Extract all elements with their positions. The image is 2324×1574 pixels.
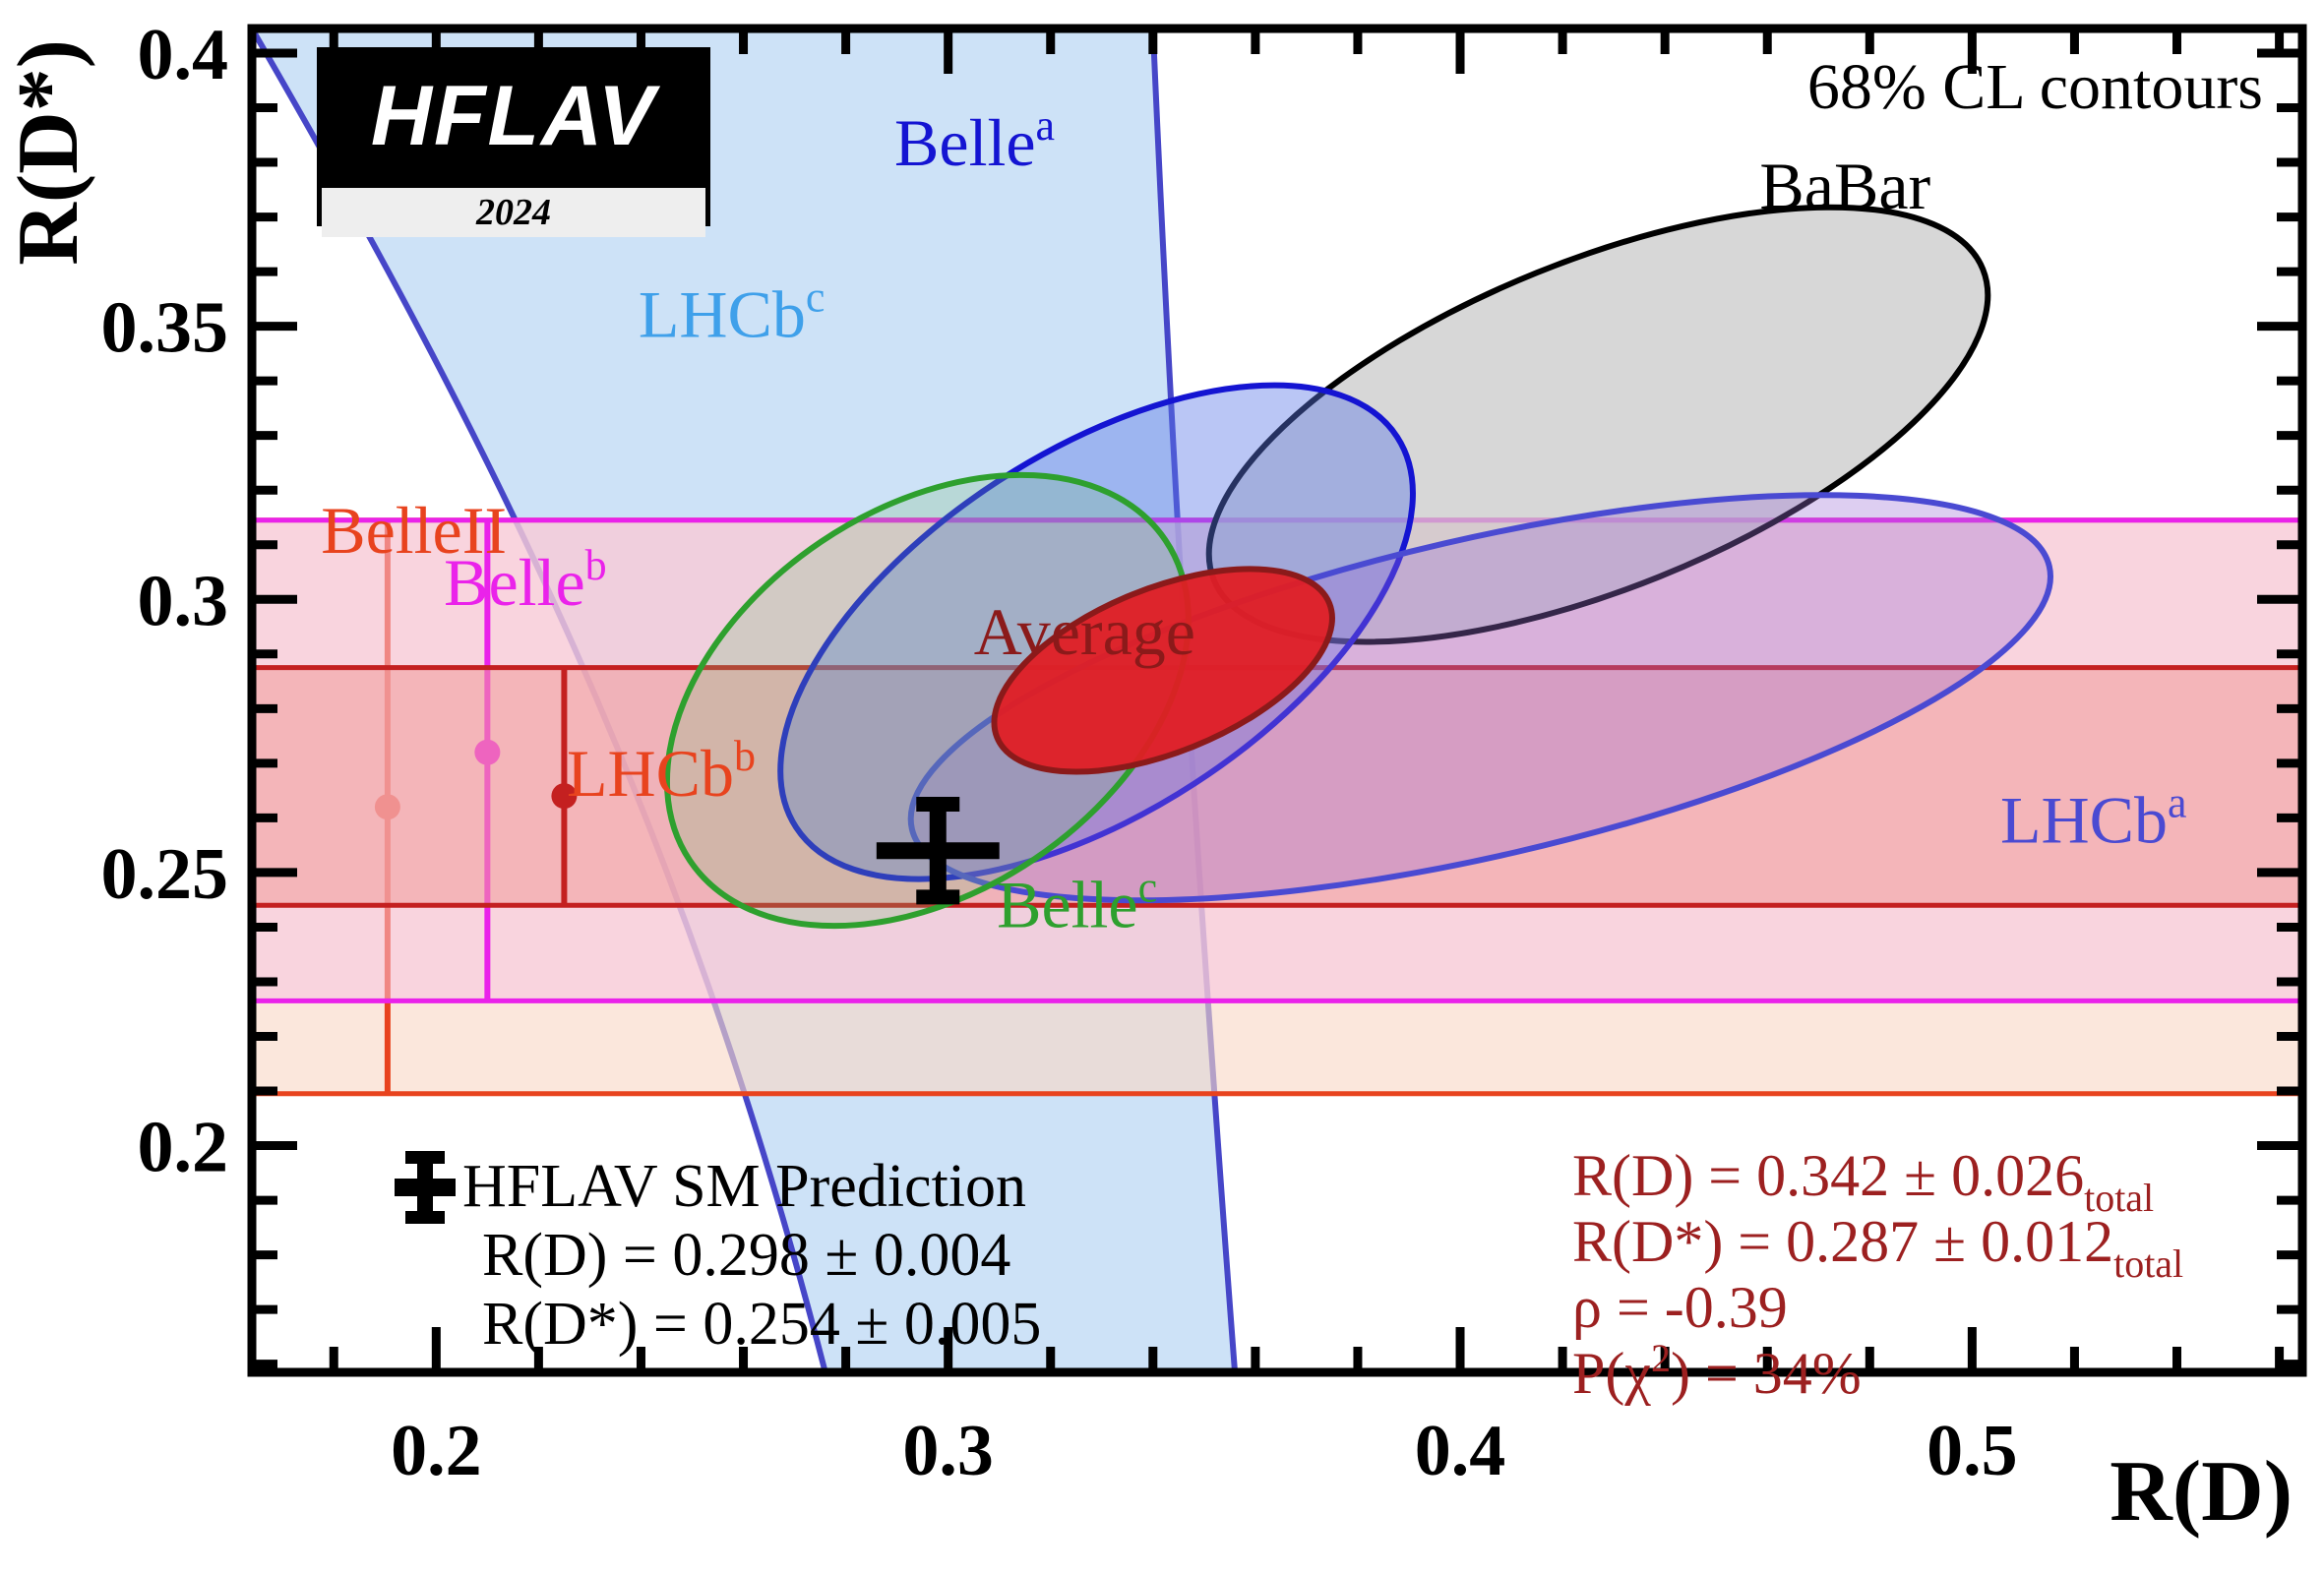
series-label-belle-a: Bellea [894, 101, 1055, 180]
x-tick-label: 0.5 [1926, 1411, 2018, 1491]
hflav-rd-rdstar-plot: 0.20.30.40.50.20.250.30.350.4 BaBarBelle… [0, 0, 2324, 1574]
y-tick-label: 0.35 [101, 288, 229, 369]
y-tick-label: 0.25 [101, 834, 229, 915]
y-axis-title: R(D*) [1, 39, 96, 266]
sm-prediction-title: HFLAV SM Prediction [462, 1153, 1026, 1220]
y-tick-label: 0.2 [138, 1108, 229, 1188]
chi2-post: ) = 34% [1671, 1341, 1862, 1406]
x-tick-label: 0.4 [1415, 1411, 1506, 1491]
average-chi2-prob: P(χ2) = 34% [1572, 1336, 1862, 1406]
series-label-text: LHCb [567, 736, 734, 811]
series-label-lhcb-c: LHCbc [639, 273, 826, 352]
series-label-superscript: c [1138, 863, 1158, 911]
x-tick-label: 0.2 [391, 1411, 482, 1491]
average-rho: ρ = -0.39 [1572, 1275, 1788, 1340]
chi2-pre: P(χ [1572, 1341, 1651, 1406]
series-label-babar: BaBar [1759, 149, 1930, 223]
hflav-logo-text: HFLAV [322, 52, 705, 188]
average-rdstar-main: R(D*) = 0.287 ± 0.012 [1572, 1209, 2113, 1274]
hflav-logo-year: 2024 [322, 188, 705, 237]
average-rdstar-sub: total [2113, 1241, 2183, 1286]
hflav-logo-box: HFLAV 2024 [317, 47, 710, 226]
series-label-lhcb-a: LHCba [2000, 778, 2187, 857]
cl-contours-note: 68% CL contours [1807, 51, 2263, 123]
series-label-text: LHCb [639, 277, 806, 352]
series-label-superscript: a [2168, 778, 2187, 826]
y-tick-label: 0.4 [138, 15, 229, 95]
series-label-text: BaBar [1759, 149, 1930, 223]
series-label-belle-b: Belleb [444, 541, 607, 620]
series-label-text: Belle [894, 105, 1036, 180]
average-rd-main: R(D) = 0.342 ± 0.026 [1572, 1143, 2084, 1208]
series-label-belle-c: Bellec [997, 863, 1157, 941]
series-label-lhcb-b: LHCbb [567, 732, 756, 811]
sm-prediction-rd: R(D) = 0.298 ± 0.004 [482, 1222, 1010, 1289]
series-label-superscript: c [806, 273, 826, 322]
series-label-text: Average [974, 594, 1195, 669]
sm-prediction-rdstar: R(D*) = 0.254 ± 0.005 [482, 1291, 1041, 1358]
series-label-superscript: b [734, 732, 756, 780]
y-tick-label: 0.3 [138, 561, 229, 641]
series-label-average: Average [974, 594, 1195, 669]
series-label-text: Belle [997, 867, 1138, 941]
x-axis-title: R(D) [2110, 1444, 2293, 1540]
chi2-sup: 2 [1651, 1336, 1671, 1380]
series-label-superscript: a [1036, 101, 1056, 150]
series-label-text: Belle [444, 545, 585, 620]
series-label-superscript: b [585, 541, 607, 589]
series-label-text: LHCb [2000, 782, 2168, 857]
x-tick-label: 0.3 [902, 1411, 994, 1491]
